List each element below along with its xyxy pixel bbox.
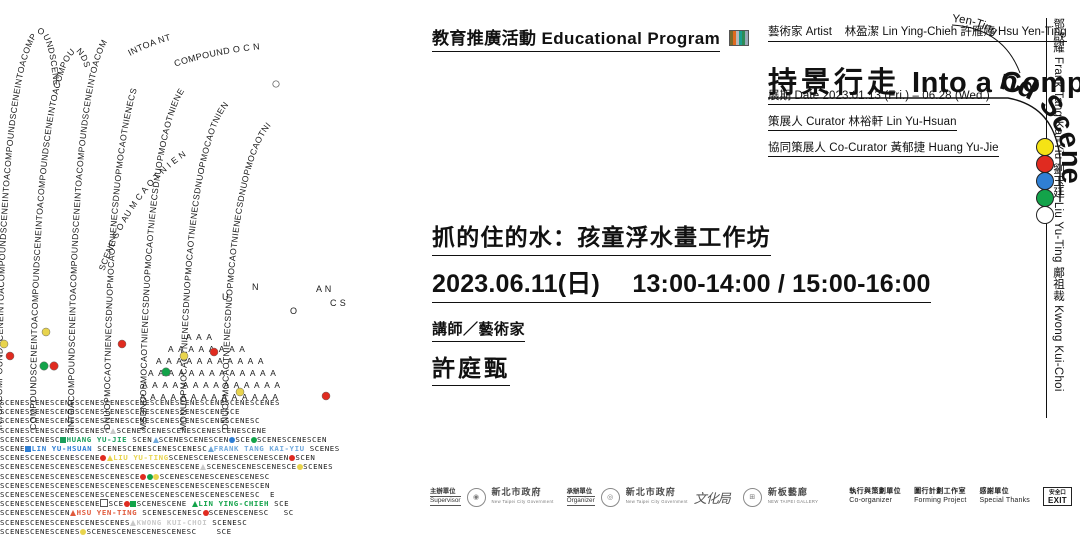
art-a-pyramid: A A A A A A A A A A A A A A A A A A A A … [140,332,282,402]
svg-text:A A A: A A A [186,332,214,342]
ascii-row: SCENESCENESCENESCENESCENESCENESCENESCENE… [0,481,400,490]
ascii-name-block: SCENESCENESCENESCENESCENESCENESCENESCENE… [0,398,400,536]
forming-cn: 圖行計劃工作室 [914,487,966,496]
culture-bureau-wordmark: 文化局 [694,488,730,507]
art-letter-n: N [252,282,259,292]
thanks-unit: 感謝單位 Special Thanks [979,487,1030,505]
artist-label: 藝術家 Artist [768,26,832,38]
culture-bureau-logo-icon: ◎ [601,488,620,507]
dot-green [1036,189,1054,207]
ascii-row: SCENESCENESCENESCENESCENESCENESCENESCENE… [0,462,400,471]
ascii-row: SCENESCENESCENESCENESCENESKWONG KUI-CHOI… [0,518,400,527]
dot-yellow [1036,138,1054,156]
dot-blue [1036,172,1054,190]
supervisor-logo-cn: 新北市政府 [492,487,542,497]
organizer-logo-text: 新北市政府 New Taipei City Government [626,487,688,507]
supervisor-unit: 主辦單位 Supervisor ◉ 新北市政府 New Taipei City … [430,487,554,507]
organizer-en: Organizer [567,497,595,506]
forming-unit: 圖行計劃工作室 Forming Project [914,487,966,505]
art-letters-an: A N [316,284,332,294]
gallery-logo-icon: ⊞ [743,488,762,507]
workshop-title: 抓的住的水：孩童浮水畫工作坊 [432,218,771,256]
lecturer-name: 許庭甄 [432,349,510,386]
supervisor-cn: 主辦單位 [430,488,461,497]
art-arc-10: COMPOUND O C N [173,41,261,68]
color-stripes-icon [729,30,749,46]
color-dot-stack [1036,138,1054,223]
organizer-cn: 承辦單位 [567,488,595,497]
ascii-row: SCENESCENESCENESCENESCENESCENESCENESCENE… [0,416,400,425]
art-arc-9: INTOA NT [126,32,172,58]
art-letter-u: U [222,292,229,302]
supervisor-logo-text: 新北市政府 New Taipei City Government [492,487,554,507]
educational-program-header: 教育推廣活動 Educational Program [432,24,749,52]
ntpc-logo-icon: ◉ [467,488,486,507]
exit-en: EXIT [1048,497,1067,504]
supervisor-caption: 主辦單位 Supervisor [430,488,461,506]
coorganizer-unit: 執行與策劃單位 Co-organizer [849,487,901,505]
organizer-logo-en: New Taipei City Government [626,497,688,507]
lecturer-block: 講師／藝術家 許庭甄 [432,318,525,386]
coorganizer-en: Co-organizer [849,496,901,505]
organizer-logo-cn: 新北市政府 [626,487,676,497]
lecturer-label: 講師／藝術家 [432,318,525,342]
ascii-row: SCENESCENESCENESCENESCENESCESCENESCENESC… [0,472,400,481]
workshop-datetime: 2023.06.11(日) 13:00-14:00 / 15:00-16:00 [432,264,931,303]
svg-text:A A A A A A A A A A A: A A A A A A A A A A A [156,356,265,366]
stripe-5 [745,31,748,45]
ascii-row: SCENESCENESCENESSCENESCENESCENESCENESC S… [0,527,400,536]
art-letters-cs: C S [330,298,346,308]
thanks-en: Special Thanks [979,496,1030,505]
organizer-unit: 承辦單位 Organizer ◎ 新北市政府 New Taipei City G… [567,487,730,507]
ascii-row: SCENESCENESCENESCENELIU YU-TINGSCENESCEN… [0,453,400,462]
organizer-caption: 承辦單位 Organizer [567,488,595,506]
dot-white [1036,206,1054,224]
coorganizer-cn: 執行與策劃單位 [849,487,901,496]
ascii-row: SCENESCENESCENESCENESCENESCENESCENESCENE… [0,398,400,407]
exit-badge: 安全口 EXIT [1043,487,1072,506]
thanks-cn: 感謝單位 [979,487,1030,496]
gallery-logo-en: NEW TAIPEI GALLERY [768,497,819,507]
gallery-unit: ⊞ 新板藝廊 NEW TAIPEI GALLERY [743,487,819,507]
gallery-logo-text: 新板藝廊 NEW TAIPEI GALLERY [768,487,819,507]
ascii-row: SCENESCENESCENESCENESCENESCENESCENESCENE… [0,490,400,499]
ascii-row: SCENELIN YU-HSUAN SCENESCENESCENESCENESC… [0,444,400,453]
dot-red [1036,155,1054,173]
educational-program-label: 教育推廣活動 Educational Program [432,24,720,52]
svg-text:A A A A A A A A: A A A A A A A A [168,344,247,354]
forming-en: Forming Project [914,496,966,505]
footer-credits: 主辦單位 Supervisor ◉ 新北市政府 New Taipei City … [430,487,1072,507]
art-letter-o: O [290,306,297,316]
supervisor-logo-en: New Taipei City Government [492,497,554,507]
ascii-row: SCENESCENESCENESCENESCSCENESCENESCENESCE… [0,426,400,435]
ascii-row: SCENESCENESCENESCENESCESCENESCENE LIN YI… [0,499,400,508]
exit-cn: 安全口 [1049,490,1066,496]
ascii-row: SCENESCENESCENESCENESCENESCENESCENESCENE… [0,407,400,416]
svg-text:A A A A A A A A A A A A A A: A A A A A A A A A A A A A A [142,380,282,390]
poster-canvas: INTOACOMPOUNDSCENEINTOACOMPOUNDSCENEINTO… [0,0,1080,540]
ascii-row: SCENESCENESCHUANG YU-JIE SCENSCENESCENES… [0,435,400,444]
ascii-row: SCENESCENESCENHSU YEN-TING SCENESCENESCS… [0,508,400,517]
gallery-logo-cn: 新板藝廊 [768,487,808,497]
supervisor-en: Supervisor [430,497,461,506]
